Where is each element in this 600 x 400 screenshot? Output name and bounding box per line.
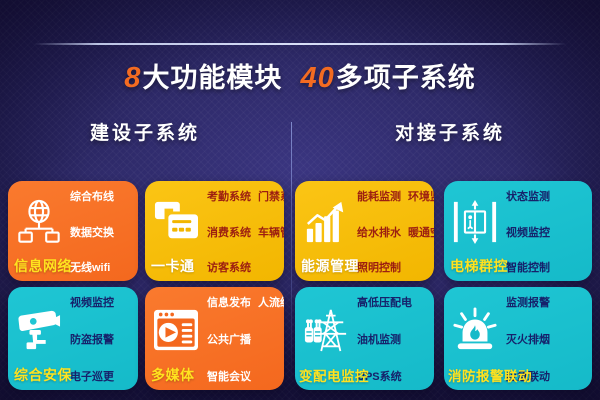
module-card-item-row: 高低压配电 — [357, 298, 428, 310]
module-card-title: 变配电监控 — [299, 365, 369, 385]
module-card-title: 信息网络 — [14, 256, 72, 276]
module-item-label[interactable]: 暖通空调 — [408, 228, 434, 240]
module-item-label[interactable]: 考勤系统 — [207, 192, 251, 204]
module-card-item-row: 灭火排烟 — [506, 335, 586, 347]
module-card-title: 综合安保 — [14, 365, 72, 385]
module-item-label[interactable]: 视频监控 — [70, 298, 114, 310]
module-item-label[interactable]: 车辆管理 — [258, 228, 284, 240]
module-card-fire-alarm-linkage[interactable]: 监测报警灭火排烟应急联动消防报警联动 — [444, 287, 592, 390]
module-item-label[interactable]: 防盗报警 — [70, 335, 114, 347]
module-card-item-row: 能耗监测环境监测 — [357, 192, 434, 204]
module-card-title: 消防报警联动 — [448, 365, 532, 385]
module-item-label[interactable]: 视频监控 — [506, 228, 550, 240]
headline-text-subsystems: 多项子系统 — [336, 63, 476, 93]
module-item-label[interactable]: 人流统计 — [258, 298, 284, 310]
module-card-items: 考勤系统门禁系统消费系统车辆管理访客系统 — [207, 181, 284, 281]
module-item-label[interactable]: 公共广播 — [207, 335, 251, 347]
module-item-label[interactable]: 综合布线 — [70, 192, 114, 204]
module-card-item-row: 智能控制 — [506, 263, 586, 275]
module-item-label[interactable]: 监测报警 — [506, 298, 550, 310]
module-card-item-row: 视频监控 — [70, 298, 132, 310]
module-card-item-row: 状态监测 — [506, 192, 586, 204]
section-title-integration: 对接子系统 — [300, 118, 600, 145]
module-item-label[interactable]: 高低压配电 — [357, 298, 412, 310]
module-card-items: 状态监测视频监控智能控制 — [506, 181, 592, 281]
module-card-multimedia[interactable]: 信息发布人流统计公共广播智能会议多媒体 — [145, 287, 284, 390]
module-item-label[interactable]: 油机监测 — [357, 335, 401, 347]
module-card-item-row: 电子巡更 — [70, 372, 132, 384]
module-card-item-row: 访客系统 — [207, 263, 284, 275]
module-card-items: 综合布线数据交换无线wifi — [70, 181, 138, 281]
module-card-item-row: 给水排水暖通空调 — [357, 228, 434, 240]
module-card-item-row: 消费系统车辆管理 — [207, 228, 284, 240]
module-card-item-row: 防盗报警 — [70, 335, 132, 347]
module-card-title: 一卡通 — [151, 256, 195, 276]
module-card-integrated-security[interactable]: 视频监控防盗报警电子巡更综合安保 — [8, 287, 138, 390]
module-item-label[interactable]: 信息发布 — [207, 298, 251, 310]
module-card-title: 电梯群控 — [450, 256, 508, 276]
module-item-label[interactable]: 给水排水 — [357, 228, 401, 240]
module-item-label[interactable]: 环境监测 — [408, 192, 434, 204]
module-item-label[interactable]: 电子巡更 — [70, 372, 114, 384]
module-item-label[interactable]: 智能会议 — [207, 372, 251, 384]
headline-text-modules: 大功能模块 — [142, 63, 282, 93]
module-card-item-row: 公共广播 — [207, 335, 284, 347]
module-card-item-row: 无线wifi — [70, 263, 132, 275]
module-card-item-row: 监测报警 — [506, 298, 586, 310]
module-item-label[interactable]: 无线wifi — [70, 263, 110, 275]
module-card-energy-management[interactable]: 能耗监测环境监测给水排水暖通空调照明控制能源管理 — [295, 181, 434, 281]
headline-number-modules: 8 — [124, 62, 142, 94]
module-card-power-distribution-monitoring[interactable]: 高低压配电油机监测UPS系统变配电监控 — [295, 287, 434, 390]
module-item-label[interactable]: 照明控制 — [357, 263, 401, 275]
headline-number-subsystems: 40 — [300, 62, 335, 94]
module-item-label[interactable]: 能耗监测 — [357, 192, 401, 204]
module-card-item-row: 视频监控 — [506, 228, 586, 240]
section-title-construction: 建设子系统 — [0, 118, 290, 145]
module-card-items: 能耗监测环境监测给水排水暖通空调照明控制 — [357, 181, 434, 281]
module-item-label[interactable]: 灭火排烟 — [506, 335, 550, 347]
module-card-one-card-system[interactable]: 考勤系统门禁系统消费系统车辆管理访客系统一卡通 — [145, 181, 284, 281]
module-item-label[interactable]: 状态监测 — [506, 192, 550, 204]
module-card-item-row: 智能会议 — [207, 372, 284, 384]
module-item-label[interactable]: 智能控制 — [506, 263, 550, 275]
module-item-label[interactable]: 消费系统 — [207, 228, 251, 240]
module-card-items: 信息发布人流统计公共广播智能会议 — [207, 287, 284, 390]
column-divider — [291, 122, 292, 380]
module-card-item-row: 数据交换 — [70, 228, 132, 240]
module-card-item-row: 信息发布人流统计 — [207, 298, 284, 310]
module-card-information-network[interactable]: 综合布线数据交换无线wifi信息网络 — [8, 181, 138, 281]
module-card-item-row: 考勤系统门禁系统 — [207, 192, 284, 204]
header-divider-rule — [34, 43, 566, 45]
module-card-title: 能源管理 — [301, 256, 359, 276]
module-item-label[interactable]: 门禁系统 — [258, 192, 284, 204]
module-card-elevator-group-control[interactable]: 状态监测视频监控智能控制电梯群控 — [444, 181, 592, 281]
page-title: 8大功能模块40多项子系统 — [0, 56, 600, 95]
module-card-title: 多媒体 — [151, 365, 195, 385]
module-card-item-row: 综合布线 — [70, 192, 132, 204]
module-card-item-row: 油机监测 — [357, 335, 428, 347]
module-card-item-row: 照明控制 — [357, 263, 434, 275]
module-item-label[interactable]: 访客系统 — [207, 263, 251, 275]
module-item-label[interactable]: 数据交换 — [70, 228, 114, 240]
module-card-items: 视频监控防盗报警电子巡更 — [70, 287, 138, 390]
